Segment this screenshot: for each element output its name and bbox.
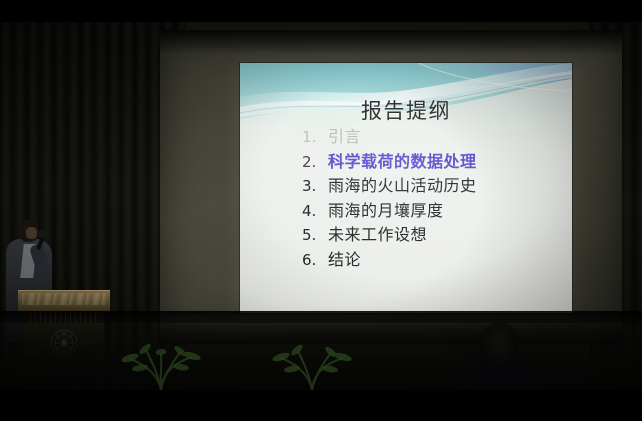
outline-item-5[interactable]: 5. 未来工作设想 bbox=[302, 223, 562, 248]
outline-item-2[interactable]: 2. 科学载荷的数据处理 bbox=[302, 150, 562, 175]
slide-outline-list: 1. 引言 2. 科学载荷的数据处理 3. 雨海的火山活动历史 4. 雨海的月壤… bbox=[302, 125, 562, 272]
outline-item-1-label: 引言 bbox=[328, 125, 361, 150]
microphone-capsule-icon bbox=[38, 230, 46, 238]
outline-item-3-number: 3. bbox=[302, 174, 328, 199]
outline-item-6-label: 结论 bbox=[328, 248, 361, 273]
outline-item-1-number: 1. bbox=[302, 125, 328, 150]
outline-item-1[interactable]: 1. 引言 bbox=[302, 125, 562, 150]
outline-item-2-number: 2. bbox=[302, 150, 328, 175]
outline-item-4-number: 4. bbox=[302, 199, 328, 224]
outline-item-5-number: 5. bbox=[302, 223, 328, 248]
outline-item-5-label: 未来工作设想 bbox=[328, 223, 427, 248]
foreground-row bbox=[0, 318, 642, 390]
slide-content: 报告提纲 1. 引言 2. 科学载荷的数据处理 3. 雨海的火山活动历史 bbox=[240, 63, 572, 313]
outline-item-3[interactable]: 3. 雨海的火山活动历史 bbox=[302, 174, 562, 199]
outline-item-4[interactable]: 4. 雨海的月壤厚度 bbox=[302, 199, 562, 224]
potted-plant-center-icon bbox=[268, 332, 354, 390]
outline-item-3-label: 雨海的火山活动历史 bbox=[328, 174, 477, 199]
outline-item-4-label: 雨海的月壤厚度 bbox=[328, 199, 444, 224]
outline-item-6-number: 6. bbox=[302, 248, 328, 273]
outline-item-2-label: 科学载荷的数据处理 bbox=[328, 150, 477, 175]
wall-shadow-top bbox=[160, 30, 622, 54]
outline-item-6[interactable]: 6. 结论 bbox=[302, 248, 562, 273]
conference-photo: 报告提纲 1. 引言 2. 科学载荷的数据处理 3. 雨海的火山活动历史 bbox=[0, 0, 642, 421]
letterbox-bottom bbox=[0, 390, 642, 421]
slide-title: 报告提纲 bbox=[240, 95, 572, 125]
potted-plant-left-icon bbox=[118, 332, 204, 390]
speaker-face bbox=[26, 227, 37, 239]
letterbox-top bbox=[0, 0, 642, 22]
projected-slide[interactable]: 报告提纲 1. 引言 2. 科学载荷的数据处理 3. 雨海的火山活动历史 bbox=[240, 63, 572, 313]
auditorium-scene: 报告提纲 1. 引言 2. 科学载荷的数据处理 3. 雨海的火山活动历史 bbox=[0, 22, 642, 390]
audience-head-silhouette bbox=[479, 322, 519, 368]
lectern-top-surface bbox=[18, 290, 110, 312]
